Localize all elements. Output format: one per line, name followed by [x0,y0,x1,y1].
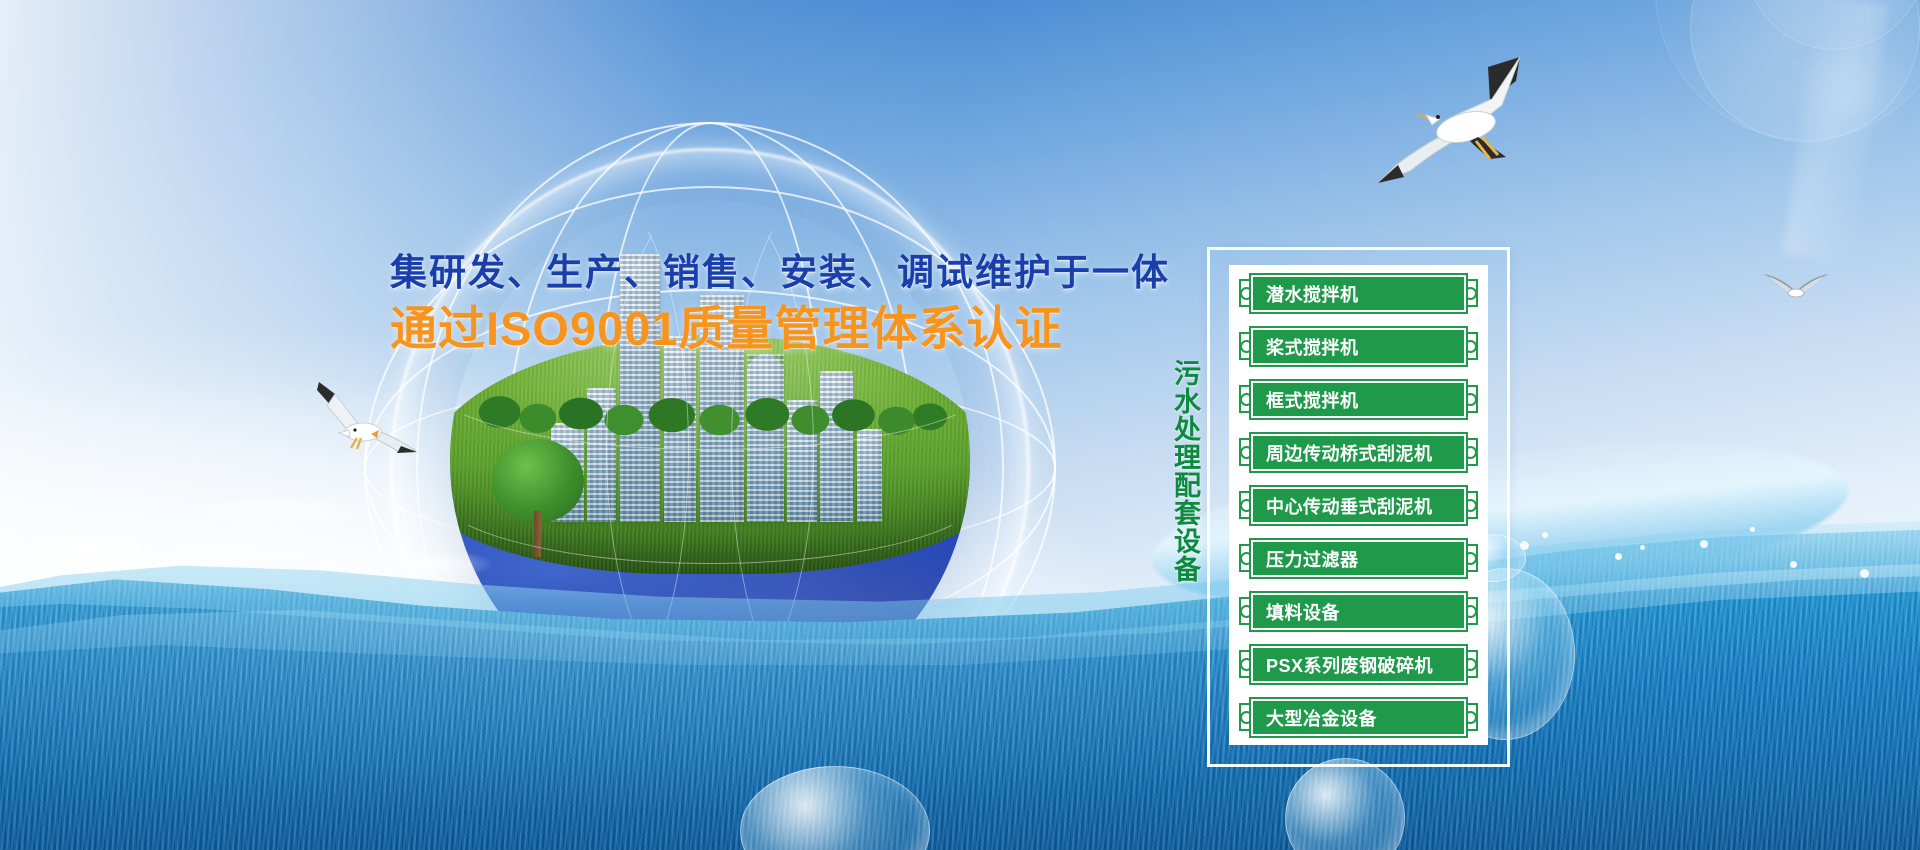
product-chip[interactable]: PSX系列废钢破碎机 [1251,646,1466,683]
product-label: 框式搅拌机 [1253,387,1359,413]
headline-line-1: 集研发、生产、销售、安装、调试维护于一体 [390,250,1190,295]
water-droplet-icon [1700,540,1708,548]
list-item[interactable]: 周边传动桥式刮泥机 [1241,432,1476,480]
list-item[interactable]: 中心传动垂式刮泥机 [1241,485,1476,533]
water-droplet-icon [1640,545,1645,550]
banner-stage: 集研发、生产、销售、安装、调试维护于一体 通过ISO9001质量管理体系认证 污… [0,0,1920,850]
product-label: 填料设备 [1253,599,1340,625]
water-wave-graphic [0,430,1920,850]
wave-splash [0,435,610,625]
water-droplet-icon [1520,541,1529,550]
product-label: 中心传动垂式刮泥机 [1253,493,1433,519]
product-chip[interactable]: 潜水搅拌机 [1251,275,1466,312]
product-chip[interactable]: 桨式搅拌机 [1251,328,1466,365]
product-label: 大型冶金设备 [1253,705,1377,731]
seagull-large-icon [1370,55,1550,185]
product-list-panel: 污水处理配套设备 潜水搅拌机 桨式搅拌机 框式搅拌机 [1207,247,1510,767]
product-chip[interactable]: 大型冶金设备 [1251,699,1466,736]
product-chip[interactable]: 压力过滤器 [1251,540,1466,577]
headline-block: 集研发、生产、销售、安装、调试维护于一体 通过ISO9001质量管理体系认证 [390,250,1190,357]
product-chip[interactable]: 框式搅拌机 [1251,381,1466,418]
list-item[interactable]: 桨式搅拌机 [1241,326,1476,374]
list-item[interactable]: 潜水搅拌机 [1241,273,1476,321]
water-droplet-icon [1750,527,1755,532]
list-item[interactable]: 压力过滤器 [1241,538,1476,586]
product-chip[interactable]: 中心传动垂式刮泥机 [1251,487,1466,524]
product-chip[interactable]: 周边传动桥式刮泥机 [1251,434,1466,471]
product-label: 桨式搅拌机 [1253,334,1359,360]
water-droplet-icon [1542,532,1548,538]
list-item[interactable]: PSX系列废钢破碎机 [1241,644,1476,692]
water-droplet-icon [1860,569,1869,578]
water-droplet-icon [1615,553,1622,560]
list-item[interactable]: 填料设备 [1241,591,1476,639]
list-item[interactable]: 框式搅拌机 [1241,379,1476,427]
product-list: 潜水搅拌机 桨式搅拌机 框式搅拌机 周边传动桥式刮泥 [1241,273,1476,750]
panel-vertical-label: 污水处理配套设备 [1165,359,1199,583]
product-label: 潜水搅拌机 [1253,281,1359,307]
product-label: 周边传动桥式刮泥机 [1253,440,1433,466]
list-item[interactable]: 大型冶金设备 [1241,697,1476,745]
product-chip[interactable]: 填料设备 [1251,593,1466,630]
water-droplet-icon [1790,561,1797,568]
product-label: PSX系列废钢破碎机 [1253,652,1433,678]
product-label: 压力过滤器 [1253,546,1359,572]
headline-line-2: 通过ISO9001质量管理体系认证 [390,301,1190,356]
seagull-small-icon [1760,268,1832,310]
